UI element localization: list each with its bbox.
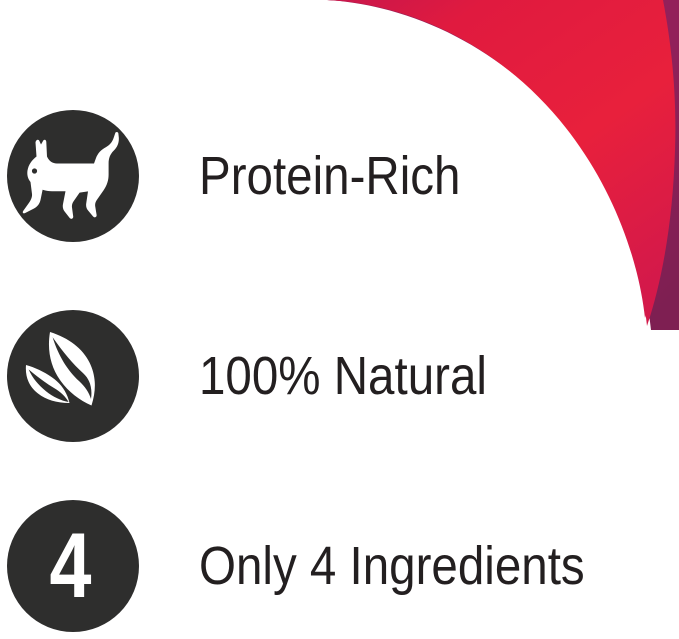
feature-row: 100% Natural bbox=[0, 306, 679, 446]
feature-row: Protein-Rich bbox=[0, 106, 679, 246]
feature-label: Only 4 Ingredients bbox=[199, 539, 585, 593]
feature-label: Protein-Rich bbox=[199, 149, 460, 203]
number-badge-icon: 4 bbox=[7, 500, 139, 632]
leaf-icon bbox=[7, 310, 139, 442]
feature-callout-graphic: Protein-Rich 100% Natural 4 Only 4 Ingre… bbox=[0, 0, 679, 639]
feature-row: 4 Only 4 Ingredients bbox=[0, 496, 679, 636]
badge-number-value: 4 bbox=[49, 520, 90, 612]
dog-icon bbox=[7, 110, 139, 242]
feature-label: 100% Natural bbox=[199, 349, 487, 403]
